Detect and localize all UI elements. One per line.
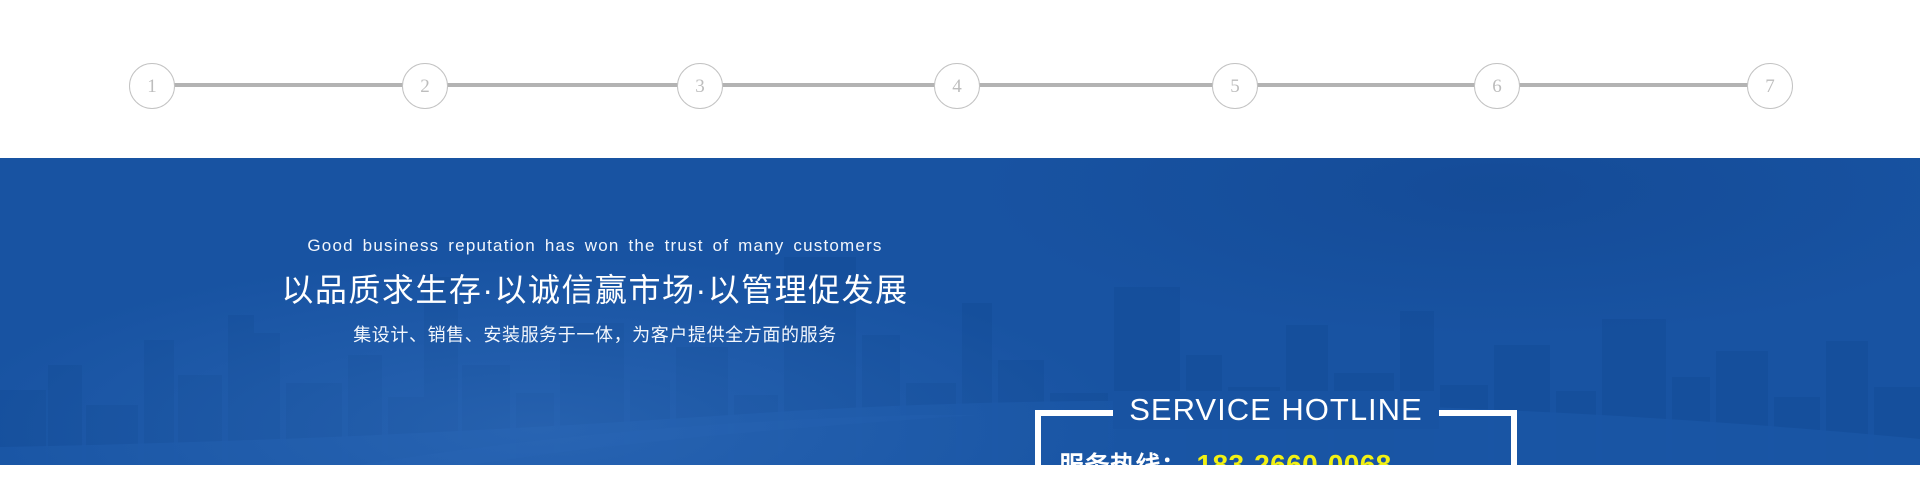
slogan-headline: 以品质求生存·以诚信赢市场·以管理促发展	[250, 270, 940, 310]
step-node-3[interactable]: 3	[677, 63, 723, 109]
slogan-english-line: Good business reputation has won the tru…	[250, 236, 940, 256]
step-node-5[interactable]: 5	[1212, 63, 1258, 109]
hotline-label: 服务热线：	[1059, 446, 1187, 465]
slogan-block: Good business reputation has won the tru…	[250, 236, 940, 348]
step-number-label: 2	[420, 77, 430, 96]
step-number-label: 5	[1230, 77, 1240, 96]
slogan-subline: 集设计、销售、安装服务于一体，为客户提供全方面的服务	[250, 324, 940, 347]
hotline-title-wrap: SERVICE HOTLINE	[1035, 391, 1517, 429]
hotline-phone-primary[interactable]: 183-2660-0068	[1197, 449, 1392, 465]
step-progress-bar: 1234567	[0, 0, 1920, 158]
step-number-label: 6	[1492, 77, 1502, 96]
step-number-label: 7	[1765, 77, 1775, 96]
service-hotline-box: SERVICE HOTLINE 服务热线： 183-2660-0068 0551…	[1035, 410, 1517, 465]
step-node-1[interactable]: 1	[129, 63, 175, 109]
hotline-row-primary: 服务热线： 183-2660-0068	[1059, 446, 1517, 465]
step-node-6[interactable]: 6	[1474, 63, 1520, 109]
page-root: 1234567	[0, 0, 1920, 500]
hotline-number-list: 服务热线： 183-2660-0068 0551-63749777	[1035, 446, 1517, 465]
hotline-title: SERVICE HOTLINE	[1113, 391, 1439, 429]
step-number-label: 1	[147, 77, 157, 96]
step-number-label: 4	[952, 77, 962, 96]
promo-banner: Good business reputation has won the tru…	[0, 158, 1920, 465]
step-number-label: 3	[695, 77, 705, 96]
step-node-2[interactable]: 2	[402, 63, 448, 109]
step-node-7[interactable]: 7	[1747, 63, 1793, 109]
step-node-4[interactable]: 4	[934, 63, 980, 109]
